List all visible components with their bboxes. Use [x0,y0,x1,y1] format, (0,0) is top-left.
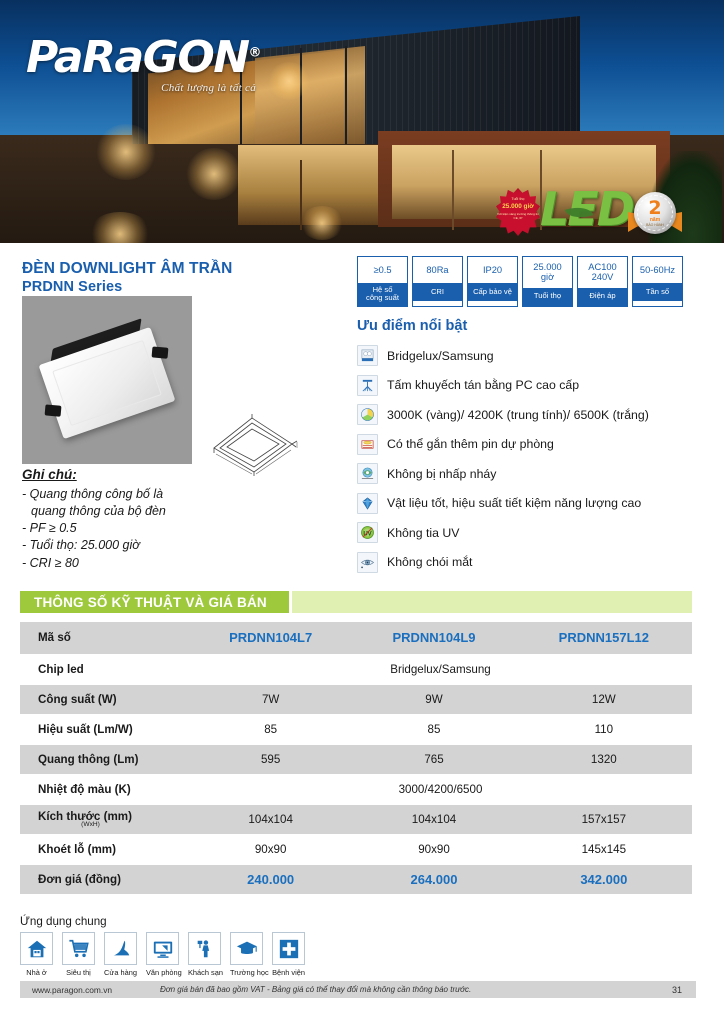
logo-wordmark: PaRaGON® [26,36,260,80]
table-row: Công suất (W)7W9W12W [20,684,692,714]
table-cell: 90x90 [352,834,515,864]
table-cell: 12W [516,684,692,714]
table-cell: 240.000 [189,864,352,894]
no-glare-eye-icon [357,552,378,573]
upper-glass-wall-2 [255,44,365,144]
table-row-label: Đơn giá (đồng) [20,864,189,894]
table-model-header: PRDNN104L7 [189,622,352,654]
section-title: THÔNG SỐ KỸ THUẬT VÀ GIÁ BÁN [34,595,267,610]
table-row-label: Công suất (W) [20,684,189,714]
feature-label: Không bị nhấp nháy [387,467,496,481]
features-list: Bridgelux/SamsungTấm khuyếch tán bằng PC… [357,341,719,577]
feature-item: 3000K (vàng)/ 4200K (trung tính)/ 6500K … [357,400,719,430]
feature-item: Không bị nhấp nháy [357,459,719,489]
table-cell: 1320 [516,744,692,774]
lifetime-seal-icon: Tuổi thọ 25.000 giờ Với kiện vàng trường… [496,188,540,236]
hero-banner: PaRaGON® Chất lượng là tất cả Tuổi thọ 2… [0,0,724,243]
table-cell: 85 [352,714,515,744]
table-row: Hiệu suất (Lm/W)8585110 [20,714,692,744]
table-cell: 9W [352,684,515,714]
section-bar: THÔNG SỐ KỸ THUẬT VÀ GIÁ BÁN [20,591,692,613]
spec-badge-key: Điện áp [578,288,627,306]
feature-item: Không chói mắt [357,548,719,578]
spec-badge-value: ≥0.5 [358,257,407,283]
application-item: Siêu thị [62,932,95,977]
table-row: Quang thông (Lm)5957651320 [20,744,692,774]
downlight-fixture-image [39,327,176,439]
monitor-icon [146,932,179,965]
table-cell: 595 [189,744,352,774]
application-label: Nhà ở [20,968,53,977]
note-line-3: - Tuổi thọ: 25.000 giờ [22,538,140,552]
lifetime-seal-line1: Tuổi thọ [496,197,540,201]
application-item: Trường học [230,932,263,977]
spec-badge-value: 25.000giờ [523,257,572,288]
product-title-line2: PRDNN Series [22,278,352,296]
note-block: Ghi chú: - Quang thông công bố là quang … [22,466,252,572]
datasheet-page: PaRaGON® Chất lượng là tất cả Tuổi thọ 2… [0,0,724,1024]
wall-light-glow [186,148,242,200]
spec-badge-key: Tần số [633,283,682,301]
spec-badge-key: Hệ sốcông suất [358,283,407,306]
lifetime-seal-line3: Với kiện vàng trường thông tin CE, IP [496,212,540,220]
table-cell: 104x104 [352,804,515,834]
table-cell: 264.000 [352,864,515,894]
table-cell: 90x90 [189,834,352,864]
warranty-seal-icon: 2 năm BẢO HÀNH [634,192,676,234]
feature-item: Vật liệu tốt, hiệu suất tiết kiệm năng l… [357,489,719,519]
product-title-line1: ĐÈN DOWNLIGHT ÂM TRẦN [22,259,352,278]
note-line-0: - Quang thông công bố là [22,487,163,501]
feature-label: 3000K (vàng)/ 4200K (trung tính)/ 6500K … [387,408,649,422]
footer-url[interactable]: www.paragon.com.vn [20,985,160,995]
application-item: Văn phòng [146,932,179,977]
feature-item: Bridgelux/Samsung [357,341,719,371]
features-heading: Ưu điểm nổi bật [357,318,467,334]
spec-badge-key: CRI [413,283,462,301]
feature-label: Bridgelux/Samsung [387,349,494,363]
feature-label: Không chói mắt [387,555,472,569]
page-number: 31 [672,985,696,995]
table-row: Kích thước (mm)(WxH)104x104104x104157x15… [20,804,692,834]
application-item: Nhà ở [20,932,53,977]
application-label: Trường học [230,968,263,977]
application-item: Cửa hàng [104,932,137,977]
battery-icon [357,434,378,455]
table-row-label: Khoét lỗ (mm) [20,834,189,864]
diffuser-icon [357,375,378,396]
spec-badge: 25.000giờTuổi thọ [522,256,573,307]
table-model-header: PRDNN157L12 [516,622,692,654]
table-cell: 157x157 [516,804,692,834]
feature-label: Không tia UV [387,526,459,540]
spec-badge-value: 50-60Hz [633,257,682,283]
color-temp-icon [357,404,378,425]
spec-badge-key: Cấp bảo vệ [468,283,517,301]
table-model-header: PRDNN104L9 [352,622,515,654]
spring-clip [152,346,169,358]
application-label: Văn phòng [146,968,179,977]
table-row: Mã sốPRDNN104L7PRDNN104L9PRDNN157L12 [20,622,692,654]
spec-badge: ≥0.5Hệ sốcông suất [357,256,408,307]
footer-note: Đơn giá bán đã bao gồm VAT - Bảng giá có… [160,985,672,994]
registered-mark: ® [249,45,261,60]
application-item: Khách sạn [188,932,221,977]
table-cell: 145x145 [516,834,692,864]
table-cell-merged: Bridgelux/Samsung [189,654,692,684]
table-row-label: Chip led [20,654,189,684]
table-row-label: Quang thông (Lm) [20,744,189,774]
house-icon [20,932,53,965]
table-row-label: Mã số [20,622,189,654]
spec-badge: AC100240VĐiện áp [577,256,628,307]
application-label: Bệnh viện [272,968,305,977]
no-uv-icon: UV [357,522,378,543]
table-cell: 104x104 [189,804,352,834]
paragon-logo: PaRaGON® Chất lượng là tất cả [26,36,260,94]
spring-clip [45,404,62,416]
application-item: Bệnh viện [272,932,305,977]
wall-light-glow [96,124,156,180]
application-label: Khách sạn [188,968,221,977]
application-label: Siêu thị [62,968,95,977]
product-title: ĐÈN DOWNLIGHT ÂM TRẦN PRDNN Series [22,259,352,297]
feature-label: Tấm khuyếch tán bằng PC cao cấp [387,378,579,392]
warranty-number: 2 [634,199,676,218]
note-line-4: - CRI ≥ 80 [22,556,79,570]
table-row: Khoét lỗ (mm)90x9090x90145x145 [20,834,692,864]
feature-label: Vật liệu tốt, hiệu suất tiết kiệm năng l… [387,496,641,510]
quality-gem-icon [357,493,378,514]
page-footer: www.paragon.com.vn Đơn giá bán đã bao gồ… [20,981,696,998]
note-line-1: quang thông của bộ đèn [22,503,252,520]
applications-row: Nhà ởSiêu thịCửa hàngVăn phòngKhách sạnT… [20,932,305,977]
note-heading: Ghi chú: [22,466,252,485]
table-row: Đơn giá (đồng)240.000264.000342.000 [20,864,692,894]
spec-badge: IP20Cấp bảo vệ [467,256,518,307]
table-row-label: Kích thước (mm)(WxH) [20,804,189,834]
warranty-sub: BẢO HÀNH [634,223,676,227]
shopping-cart-icon [62,932,95,965]
product-photo [22,296,192,464]
spec-table: Mã sốPRDNN104L7PRDNN104L9PRDNN157L12Chip… [20,622,692,895]
table-cell: 85 [189,714,352,744]
note-line-2: - PF ≥ 0.5 [22,521,77,535]
feature-item: Tấm khuyếch tán bằng PC cao cấp [357,371,719,401]
table-row: Chip ledBridgelux/Samsung [20,654,692,684]
table-cell: 342.000 [516,864,692,894]
fixture-body [39,327,176,439]
feature-label: Có thể gắn thêm pin dự phòng [387,437,554,451]
no-flicker-icon [357,463,378,484]
led-chip-icon [357,345,378,366]
lifetime-seal-line2: 25.000 giờ [496,203,540,210]
window-mullion [452,150,454,230]
ceiling-light-glow [268,62,310,100]
spec-badge: 50-60HzTần số [632,256,683,307]
shoe-icon [104,932,137,965]
applications-heading: Ứng dụng chung [20,915,107,928]
graduation-cap-icon [230,932,263,965]
bellhop-icon [188,932,221,965]
table-row: Nhiệt độ màu (K)3000/4200/6500 [20,774,692,804]
spec-badge-value: 80Ra [413,257,462,283]
spec-badge-value: AC100240V [578,257,627,288]
spec-badge-value: IP20 [468,257,517,283]
window-mullion [345,46,347,144]
table-cell: 7W [189,684,352,714]
table-cell-merged: 3000/4200/6500 [189,774,692,804]
table-row-label: Hiệu suất (Lm/W) [20,714,189,744]
table-cell: 110 [516,714,692,744]
spec-badge-row: ≥0.5Hệ sốcông suất80RaCRIIP20Cấp bảo vệ2… [357,256,683,307]
feature-item: UVKhông tia UV [357,518,719,548]
spec-badge-key: Tuổi thọ [523,288,572,306]
table-cell: 765 [352,744,515,774]
spec-badge: 80RaCRI [412,256,463,307]
feature-item: Có thể gắn thêm pin dự phòng [357,430,719,460]
medical-cross-icon [272,932,305,965]
table-row-label: Nhiệt độ màu (K) [20,774,189,804]
section-bar-tail [292,591,692,613]
application-label: Cửa hàng [104,968,137,977]
interior-light-glow [300,206,344,240]
logo-tagline: Chất lượng là tất cả [26,82,260,94]
